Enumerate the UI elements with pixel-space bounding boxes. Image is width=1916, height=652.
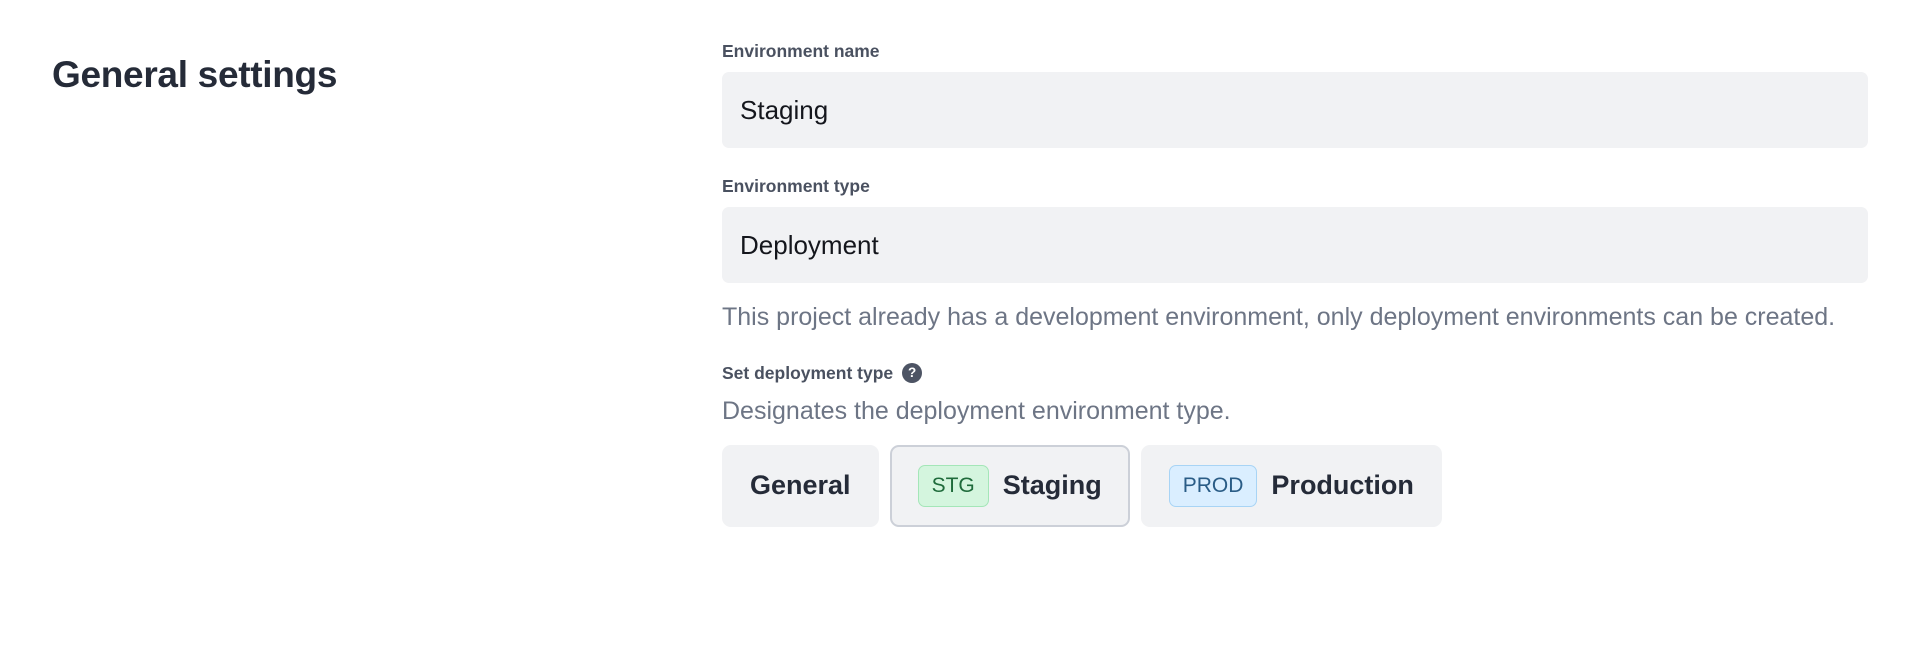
- production-badge: PROD: [1169, 465, 1258, 507]
- environment-type-field: Environment type This project already ha…: [722, 175, 1868, 334]
- deployment-type-option-staging[interactable]: STG Staging: [890, 445, 1130, 527]
- deployment-type-description: Designates the deployment environment ty…: [722, 395, 1868, 428]
- environment-name-input[interactable]: [722, 72, 1868, 148]
- staging-badge: STG: [918, 465, 989, 507]
- settings-form: Environment name Environment type This p…: [722, 40, 1868, 527]
- option-label-production: Production: [1271, 472, 1414, 499]
- environment-type-label: Environment type: [722, 175, 1868, 198]
- environment-name-field: Environment name: [722, 40, 1868, 148]
- environment-type-helper-text: This project already has a development e…: [722, 301, 1842, 334]
- deployment-type-option-group: General STG Staging PROD Production: [722, 445, 1868, 527]
- general-settings-page: General settings Environment name Enviro…: [0, 0, 1916, 652]
- environment-type-input[interactable]: [722, 207, 1868, 283]
- environment-name-label: Environment name: [722, 40, 1868, 63]
- deployment-type-field: Set deployment type ? Designates the dep…: [722, 362, 1868, 527]
- page-title: General settings: [52, 53, 337, 97]
- deployment-type-label-row: Set deployment type ?: [722, 362, 1868, 385]
- deployment-type-option-general[interactable]: General: [722, 445, 879, 527]
- help-question-icon[interactable]: ?: [902, 363, 922, 383]
- option-label-general: General: [750, 472, 851, 499]
- deployment-type-label: Set deployment type: [722, 362, 893, 385]
- deployment-type-option-production[interactable]: PROD Production: [1141, 445, 1442, 527]
- option-label-staging: Staging: [1003, 472, 1102, 499]
